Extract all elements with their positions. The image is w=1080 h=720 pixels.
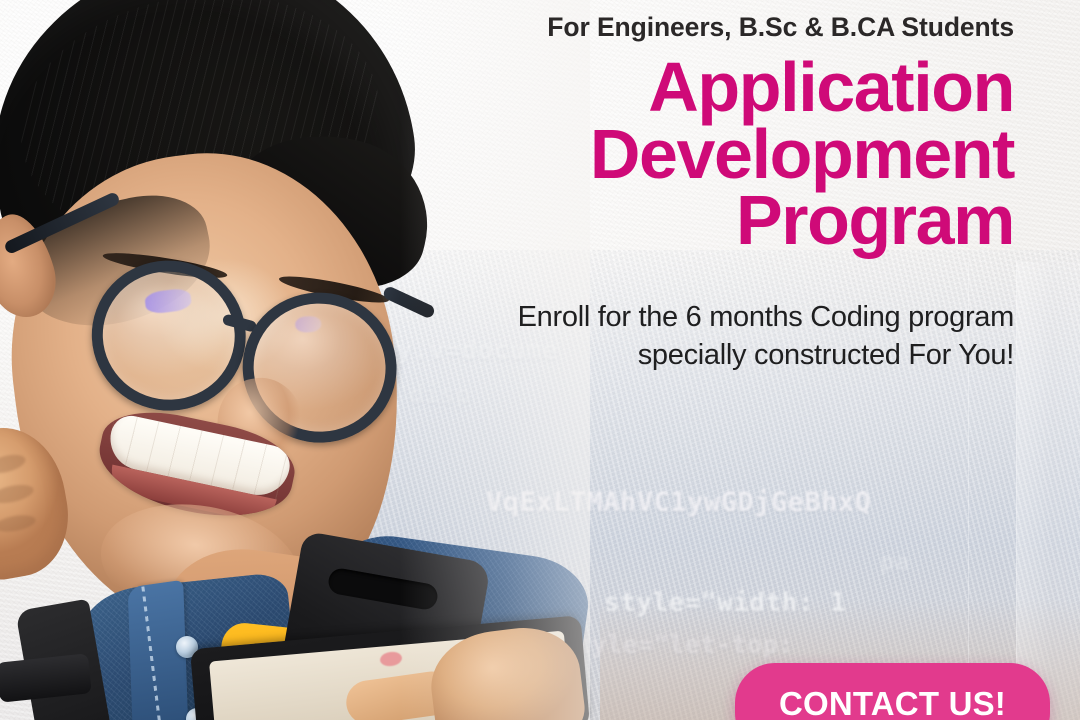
headline-line-3: Program — [466, 187, 1014, 254]
contact-us-button[interactable]: CONTACT US! — [735, 663, 1050, 720]
headline-line-1: Application — [466, 54, 1014, 121]
promotional-poster: dilly.v=docume style="disp VqExLTMAhVC1y… — [0, 0, 1080, 720]
glasses-temple-right — [382, 285, 436, 320]
audience-eyebrow-text: For Engineers, B.Sc & B.CA Students — [466, 0, 1014, 42]
page-title: Application Development Program — [466, 54, 1014, 254]
headline-line-2: Development — [466, 121, 1014, 188]
program-description-text: Enroll for the 6 months Coding program s… — [466, 298, 1014, 375]
cta-container: CONTACT US! — [735, 663, 1050, 720]
text-content-block: For Engineers, B.Sc & B.CA Students Appl… — [466, 0, 1014, 720]
